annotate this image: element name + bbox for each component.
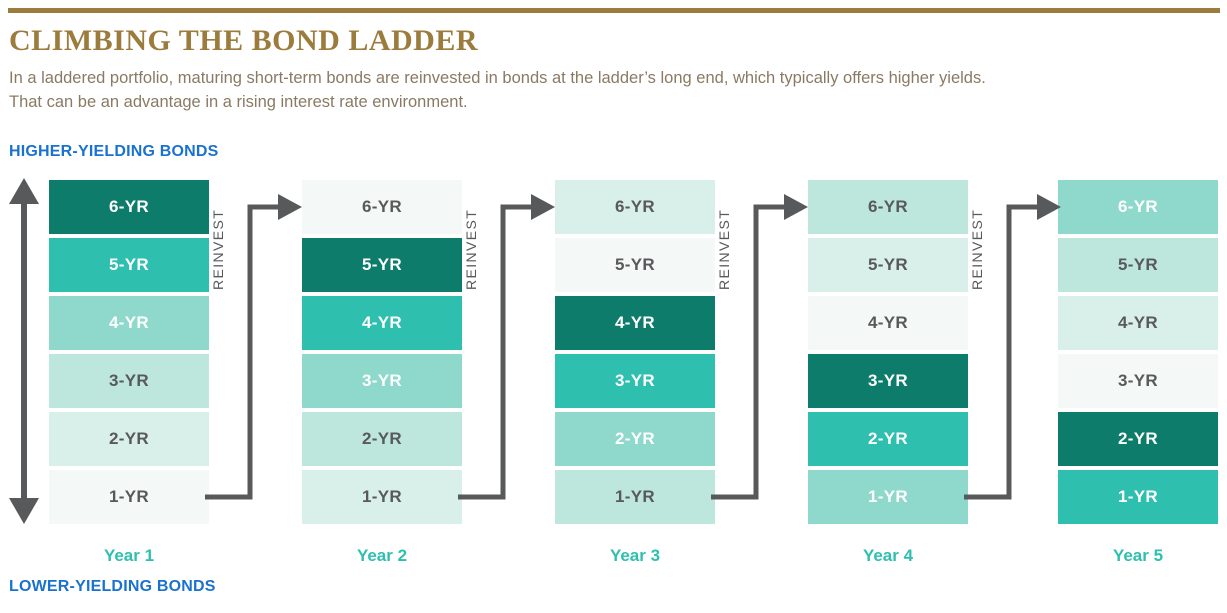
rung-label: 2-YR (615, 429, 655, 449)
higher-yielding-label: HIGHER-YIELDING BONDS (9, 143, 219, 161)
rung-6yr[interactable]: 6-YR (302, 180, 462, 234)
rung-label: 3-YR (868, 371, 908, 391)
rung-label: 4-YR (1118, 313, 1158, 333)
reinvest-connector-3: REINVEST (711, 180, 811, 526)
rung-label: 1-YR (362, 487, 402, 507)
ladder-column-year-2: 6-YR 5-YR 4-YR 3-YR 2-YR 1-YR (302, 180, 462, 526)
rung-label: 2-YR (868, 429, 908, 449)
rung-6yr[interactable]: 6-YR (49, 180, 209, 234)
rung-1yr[interactable]: 1-YR (1058, 470, 1218, 524)
rung-2yr[interactable]: 2-YR (1058, 412, 1218, 466)
rung-4yr[interactable]: 4-YR (302, 296, 462, 350)
rung-6yr[interactable]: 6-YR (808, 180, 968, 234)
reinvest-connector-2: REINVEST (458, 180, 558, 526)
rung-3yr[interactable]: 3-YR (49, 354, 209, 408)
rung-label: 4-YR (362, 313, 402, 333)
rung-label: 5-YR (109, 255, 149, 275)
year-label-5: Year 5 (1058, 546, 1218, 566)
rung-2yr[interactable]: 2-YR (808, 412, 968, 466)
rung-2yr[interactable]: 2-YR (302, 412, 462, 466)
reinvest-connector-1: REINVEST (205, 180, 305, 526)
year-label-3: Year 3 (555, 546, 715, 566)
ladder-column-year-5: 6-YR 5-YR 4-YR 3-YR 2-YR 1-YR (1058, 180, 1218, 526)
rung-6yr[interactable]: 6-YR (555, 180, 715, 234)
rung-1yr[interactable]: 1-YR (302, 470, 462, 524)
ladder-column-year-3: 6-YR 5-YR 4-YR 3-YR 2-YR 1-YR (555, 180, 715, 526)
ladder-column-year-4: 6-YR 5-YR 4-YR 3-YR 2-YR 1-YR (808, 180, 968, 526)
rung-label: 6-YR (362, 197, 402, 217)
lower-yielding-label: LOWER-YIELDING BONDS (9, 578, 216, 596)
year-label-1: Year 1 (49, 546, 209, 566)
rung-label: 3-YR (362, 371, 402, 391)
reinvest-label: REINVEST (969, 209, 985, 290)
rung-label: 5-YR (868, 255, 908, 275)
rung-label: 1-YR (1118, 487, 1158, 507)
page-title: CLIMBING THE BOND LADDER (9, 24, 478, 58)
reinvest-label: REINVEST (463, 209, 479, 290)
rung-label: 2-YR (362, 429, 402, 449)
rung-5yr[interactable]: 5-YR (302, 238, 462, 292)
rung-label: 3-YR (109, 371, 149, 391)
rung-label: 1-YR (615, 487, 655, 507)
reinvest-label: REINVEST (210, 209, 226, 290)
ladder-column-year-1: 6-YR 5-YR 4-YR 3-YR 2-YR 1-YR (49, 180, 209, 526)
rung-label: 4-YR (615, 313, 655, 333)
rung-label: 3-YR (1118, 371, 1158, 391)
rung-3yr[interactable]: 3-YR (555, 354, 715, 408)
rung-3yr[interactable]: 3-YR (808, 354, 968, 408)
rung-label: 1-YR (868, 487, 908, 507)
subtitle-line-1: In a laddered portfolio, maturing short-… (9, 66, 1139, 90)
rung-label: 2-YR (109, 429, 149, 449)
reinvest-label: REINVEST (716, 209, 732, 290)
rung-1yr[interactable]: 1-YR (808, 470, 968, 524)
rung-1yr[interactable]: 1-YR (49, 470, 209, 524)
rung-1yr[interactable]: 1-YR (555, 470, 715, 524)
rung-4yr[interactable]: 4-YR (1058, 296, 1218, 350)
header-rule (8, 8, 1220, 13)
rung-5yr[interactable]: 5-YR (1058, 238, 1218, 292)
subtitle-line-2: That can be an advantage in a rising int… (9, 90, 1139, 114)
rung-label: 6-YR (109, 197, 149, 217)
rung-label: 6-YR (1118, 197, 1158, 217)
reinvest-connector-4: REINVEST (964, 180, 1064, 526)
rung-4yr[interactable]: 4-YR (808, 296, 968, 350)
rung-6yr[interactable]: 6-YR (1058, 180, 1218, 234)
rung-4yr[interactable]: 4-YR (49, 296, 209, 350)
rung-2yr[interactable]: 2-YR (49, 412, 209, 466)
rung-label: 1-YR (109, 487, 149, 507)
rung-2yr[interactable]: 2-YR (555, 412, 715, 466)
infographic-root: CLIMBING THE BOND LADDER In a laddered p… (0, 0, 1227, 613)
rung-5yr[interactable]: 5-YR (808, 238, 968, 292)
rung-label: 2-YR (1118, 429, 1158, 449)
rung-5yr[interactable]: 5-YR (555, 238, 715, 292)
page-subtitle: In a laddered portfolio, maturing short-… (9, 66, 1139, 114)
rung-3yr[interactable]: 3-YR (302, 354, 462, 408)
rung-label: 6-YR (615, 197, 655, 217)
rung-label: 5-YR (615, 255, 655, 275)
rung-5yr[interactable]: 5-YR (49, 238, 209, 292)
rung-label: 6-YR (868, 197, 908, 217)
year-label-2: Year 2 (302, 546, 462, 566)
rung-label: 5-YR (362, 255, 402, 275)
rung-label: 3-YR (615, 371, 655, 391)
rung-3yr[interactable]: 3-YR (1058, 354, 1218, 408)
year-label-4: Year 4 (808, 546, 968, 566)
rung-label: 4-YR (868, 313, 908, 333)
rung-4yr[interactable]: 4-YR (555, 296, 715, 350)
rung-label: 4-YR (109, 313, 149, 333)
rung-label: 5-YR (1118, 255, 1158, 275)
